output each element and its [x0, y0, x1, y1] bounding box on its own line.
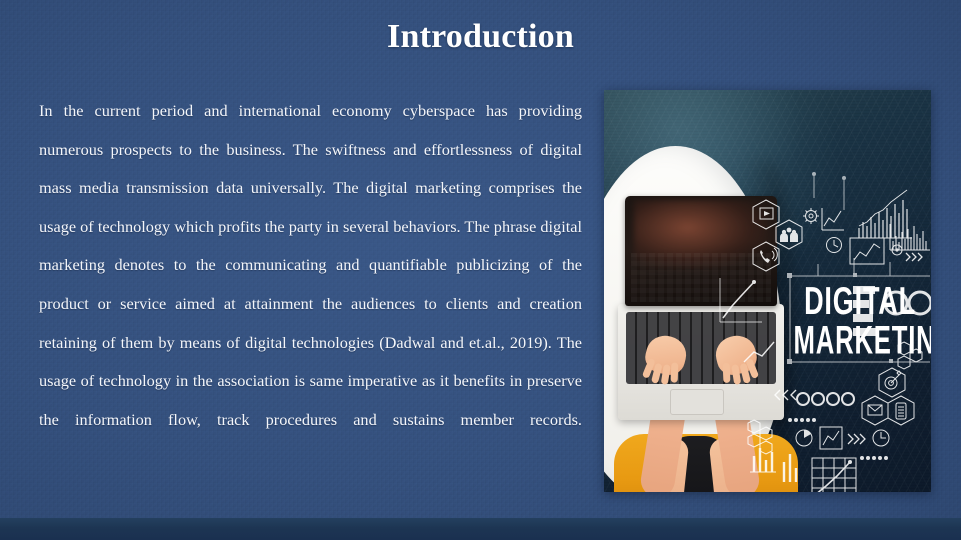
small-circles-row-icon: [797, 393, 854, 405]
pie-chart-icon: [796, 430, 812, 446]
presentation-slide: Introduction In the current period and i…: [0, 0, 961, 540]
clock-small-icon: [873, 430, 889, 446]
slide-bottom-band: [0, 518, 961, 540]
body-text-block: In the current period and international …: [39, 92, 582, 478]
left-chevrons-icon: [775, 390, 796, 400]
slide-image: DIGITAL MARKETING: [604, 90, 931, 492]
infographic-overlay: DIGITAL MARKETING: [604, 90, 931, 492]
bar-chart-icon: [856, 190, 912, 238]
play-video-icon: [753, 200, 779, 229]
tick-column-icon: [812, 172, 846, 210]
envelope-icon: [862, 396, 888, 425]
growth-line-secondary-icon: [744, 342, 774, 362]
page-title: Introduction: [0, 17, 961, 57]
clock-icon: [827, 238, 842, 253]
sparkline-chart-icon: [890, 224, 930, 250]
wave-chevrons-icon: [848, 434, 865, 444]
bar-chart-bottom-icon: [750, 448, 776, 472]
grid-growth-chart-icon: [812, 458, 856, 492]
framed-chart-icon: [850, 238, 884, 264]
people-group-icon: [776, 220, 802, 249]
line-graph-icon: [822, 208, 844, 230]
mini-line-chart-icon: [820, 427, 842, 449]
image-headline: DIGITAL MARKETING: [794, 281, 931, 364]
signal-chevrons-icon: [906, 253, 922, 261]
body-paragraph: In the current period and international …: [39, 92, 582, 478]
headline-line-2: MARKETING: [794, 318, 931, 363]
target-icon: [879, 368, 905, 397]
phone-call-icon: [753, 242, 779, 271]
bar-chart-secondary-icon: [784, 454, 796, 482]
gear-icon: [803, 208, 819, 224]
growth-line-icon: [720, 278, 762, 322]
mobile-device-icon: [888, 396, 914, 425]
